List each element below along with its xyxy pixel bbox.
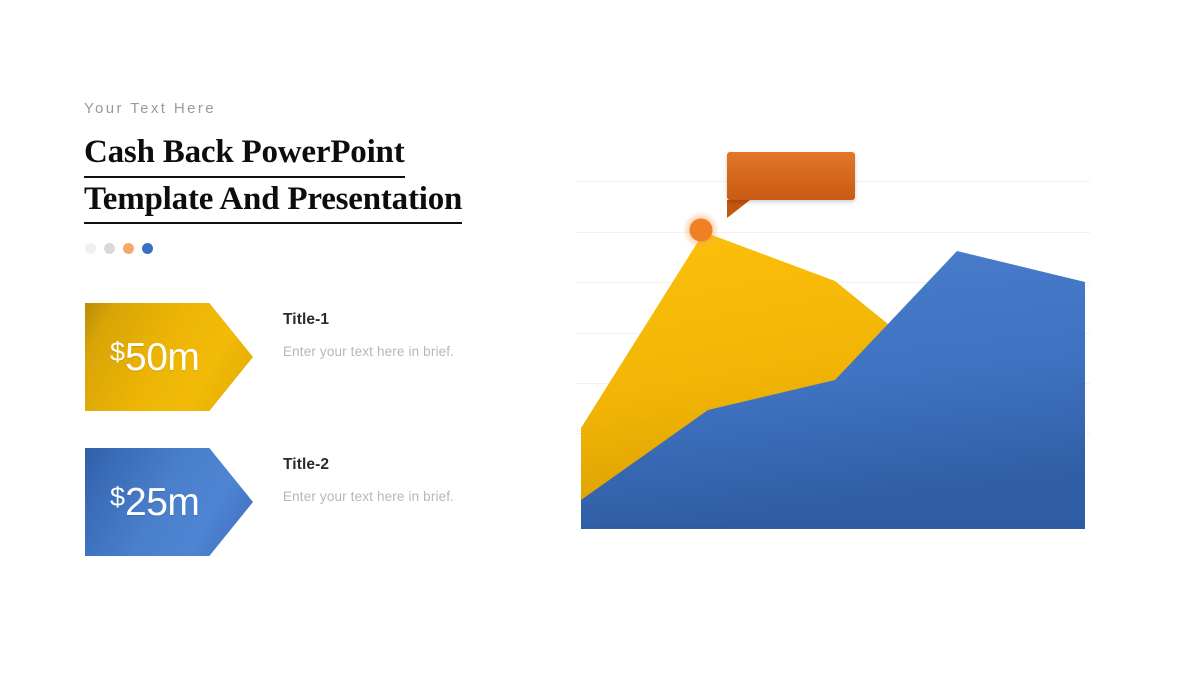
stat-amount: 50m [125, 336, 199, 379]
stat-row: $50m Title-1 Enter your text here in bri… [85, 303, 555, 411]
dot-indicator-4[interactable] [142, 243, 153, 254]
stat-banner-2[interactable]: $25m [85, 448, 253, 556]
left-content-panel: Your Text Here Cash Back PowerPoint Temp… [84, 100, 554, 224]
eyebrow-text: Your Text Here [84, 100, 554, 118]
stat-description-2: Enter your text here in brief. [283, 488, 548, 506]
dot-indicators [85, 243, 153, 254]
callout-tail [727, 200, 750, 218]
stat-title-2: Title-2 [283, 456, 548, 475]
chart-baseline [581, 525, 1085, 529]
callout-bubble[interactable] [727, 152, 855, 200]
headline-line-1: Cash Back PowerPoint [84, 131, 405, 178]
stat-text-block-1: Title-1 Enter your text here in brief. [283, 311, 548, 360]
dot-indicator-2[interactable] [104, 243, 115, 254]
dot-indicator-1[interactable] [85, 243, 96, 254]
stat-text-block-2: Title-2 Enter your text here in brief. [283, 456, 548, 505]
currency-symbol: $ [110, 482, 125, 512]
page-title: Cash Back PowerPoint Template And Presen… [84, 131, 554, 224]
stat-banner-value-2: $25m [110, 483, 199, 522]
chart-svg [560, 130, 1110, 550]
stat-row: $25m Title-2 Enter your text here in bri… [85, 448, 555, 556]
dot-indicator-3[interactable] [123, 243, 134, 254]
stat-amount: 25m [125, 481, 199, 524]
stat-banner-1[interactable]: $50m [85, 303, 253, 411]
slide-canvas: Your Text Here Cash Back PowerPoint Temp… [0, 0, 1200, 675]
area-chart: 25% [560, 130, 1110, 550]
data-point-marker[interactable] [690, 219, 713, 242]
stat-title-1: Title-1 [283, 311, 548, 330]
headline-line-2: Template And Presentation [84, 178, 462, 225]
stat-banner-value-1: $50m [110, 338, 199, 377]
stat-description-1: Enter your text here in brief. [283, 343, 548, 361]
currency-symbol: $ [110, 337, 125, 367]
